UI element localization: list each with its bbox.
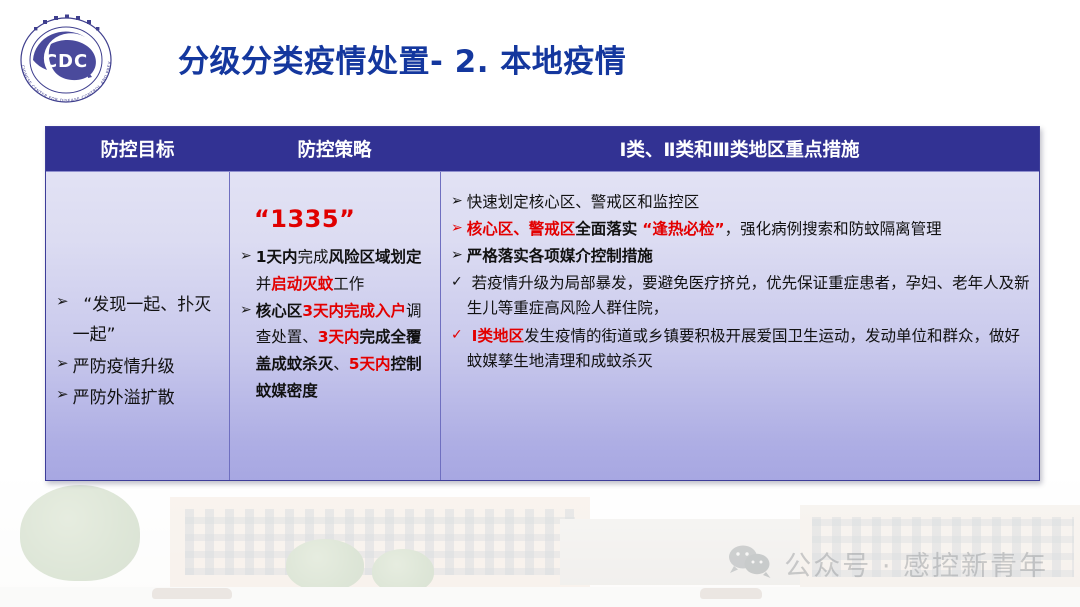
- strategy-list: “1335” ➢1天内完成风险区域划定并启动灭蚊工作➢核心区3天内完成入户调查处…: [240, 182, 432, 404]
- goal-item: ➢严防疫情升级: [56, 352, 221, 382]
- table-cell-measures: ➢快速划定核心区、警戒区和监控区➢核心区、警戒区全面落实 “逢热必检”，强化病例…: [440, 172, 1039, 480]
- photo-car-2: [700, 588, 762, 599]
- wechat-icon: [728, 544, 772, 583]
- measure-item: ✓ 若疫情升级为局部暴发，要避免医疗挤兑，优先保证重症患者，孕妇、老年人及新生儿…: [451, 271, 1031, 321]
- svg-text:CDC: CDC: [44, 51, 88, 72]
- strategy-items: ➢1天内完成风险区域划定并启动灭蚊工作➢核心区3天内完成入户调查处置、3天内完成…: [240, 244, 432, 404]
- measure-item: ➢严格落实各项媒介控制措施: [451, 244, 1031, 269]
- photo-car-1: [152, 588, 232, 599]
- goal-item: ➢ “发现一起、扑灭一起”: [56, 290, 221, 351]
- photo-tree-mid: [286, 539, 364, 591]
- photo-tree-left: [20, 485, 140, 581]
- arrow-bullet-icon: ➢: [451, 244, 463, 267]
- table-header-strategy: 防控策略: [229, 127, 440, 171]
- measure-item: ➢核心区、警戒区全面落实 “逢热必检”，强化病例搜索和防蚊隔离管理: [451, 217, 1031, 242]
- arrow-bullet-icon: ➢: [56, 352, 69, 375]
- measures-table: 防控目标 防控策略 Ⅰ类、Ⅱ类和Ⅲ类地区重点措施 ➢ “发现一起、扑灭一起”➢严…: [45, 126, 1040, 481]
- watermark-text: 公众号 · 感控新青年: [784, 544, 1048, 583]
- measures-list: ➢快速划定核心区、警戒区和监控区➢核心区、警戒区全面落实 “逢热必检”，强化病例…: [451, 182, 1031, 374]
- table-header-row: 防控目标 防控策略 Ⅰ类、Ⅱ类和Ⅲ类地区重点措施: [46, 127, 1039, 172]
- measure-item: ✓ Ⅰ类地区发生疫情的街道或乡镇要积极开展爱国卫生运动，发动单位和群众，做好蚊媒…: [451, 324, 1031, 374]
- strategy-text: 1天内完成风险区域划定并启动灭蚊工作: [256, 244, 432, 297]
- china-cdc-logo: CDC CHINESE CENTER FOR DISEASE CONTROL A…: [13, 8, 119, 108]
- strategy-text: 核心区3天内完成入户调查处置、3天内完成全覆盖成蚊杀灭、5天内控制蚊媒密度: [256, 298, 432, 405]
- strategy-item: ➢1天内完成风险区域划定并启动灭蚊工作: [240, 244, 432, 297]
- table-cell-strategy: “1335” ➢1天内完成风险区域划定并启动灭蚊工作➢核心区3天内完成入户调查处…: [229, 172, 440, 480]
- arrow-bullet-icon: ➢: [240, 298, 252, 322]
- arrow-bullet-icon: ➢: [56, 290, 69, 313]
- table-cell-goal: ➢ “发现一起、扑灭一起”➢严防疫情升级➢严防外溢扩散: [46, 172, 229, 480]
- background-photo-watermark: [0, 477, 1080, 607]
- table-header-measures: Ⅰ类、Ⅱ类和Ⅲ类地区重点措施: [440, 127, 1039, 171]
- goal-text: “发现一起、扑灭一起”: [73, 290, 221, 351]
- measure-text: Ⅰ类地区发生疫情的街道或乡镇要积极开展爱国卫生运动，发动单位和群众，做好蚊媒孳生…: [467, 324, 1031, 374]
- page-title: 分级分类疫情处置- 2. 本地疫情: [178, 36, 626, 81]
- goal-item: ➢严防外溢扩散: [56, 383, 221, 413]
- goal-text: 严防疫情升级: [73, 352, 221, 382]
- measure-text: 核心区、警戒区全面落实 “逢热必检”，强化病例搜索和防蚊隔离管理: [467, 217, 1031, 242]
- measure-text: 严格落实各项媒介控制措施: [467, 244, 1031, 269]
- goal-list: ➢ “发现一起、扑灭一起”➢严防疫情升级➢严防外溢扩散: [56, 182, 221, 413]
- table-body-row: ➢ “发现一起、扑灭一起”➢严防疫情升级➢严防外溢扩散 “1335” ➢1天内完…: [46, 172, 1039, 480]
- measure-text: 若疫情升级为局部暴发，要避免医疗挤兑，优先保证重症患者，孕妇、老年人及新生儿等重…: [467, 271, 1031, 321]
- measure-text: 快速划定核心区、警戒区和监控区: [467, 190, 1031, 215]
- arrow-bullet-icon: ➢: [56, 383, 69, 406]
- strategy-item: ➢核心区3天内完成入户调查处置、3天内完成全覆盖成蚊杀灭、5天内控制蚊媒密度: [240, 298, 432, 405]
- arrow-bullet-icon: ➢: [451, 217, 463, 240]
- check-bullet-icon: ✓: [451, 324, 463, 347]
- arrow-bullet-icon: ➢: [240, 244, 252, 268]
- measure-item: ➢快速划定核心区、警戒区和监控区: [451, 190, 1031, 215]
- goal-text: 严防外溢扩散: [73, 383, 221, 413]
- arrow-bullet-icon: ➢: [451, 190, 463, 213]
- strategy-heading-1335: “1335”: [254, 199, 432, 240]
- check-bullet-icon: ✓: [451, 271, 463, 294]
- wechat-watermark: 公众号 · 感控新青年: [728, 544, 1048, 583]
- table-header-goal: 防控目标: [46, 127, 229, 171]
